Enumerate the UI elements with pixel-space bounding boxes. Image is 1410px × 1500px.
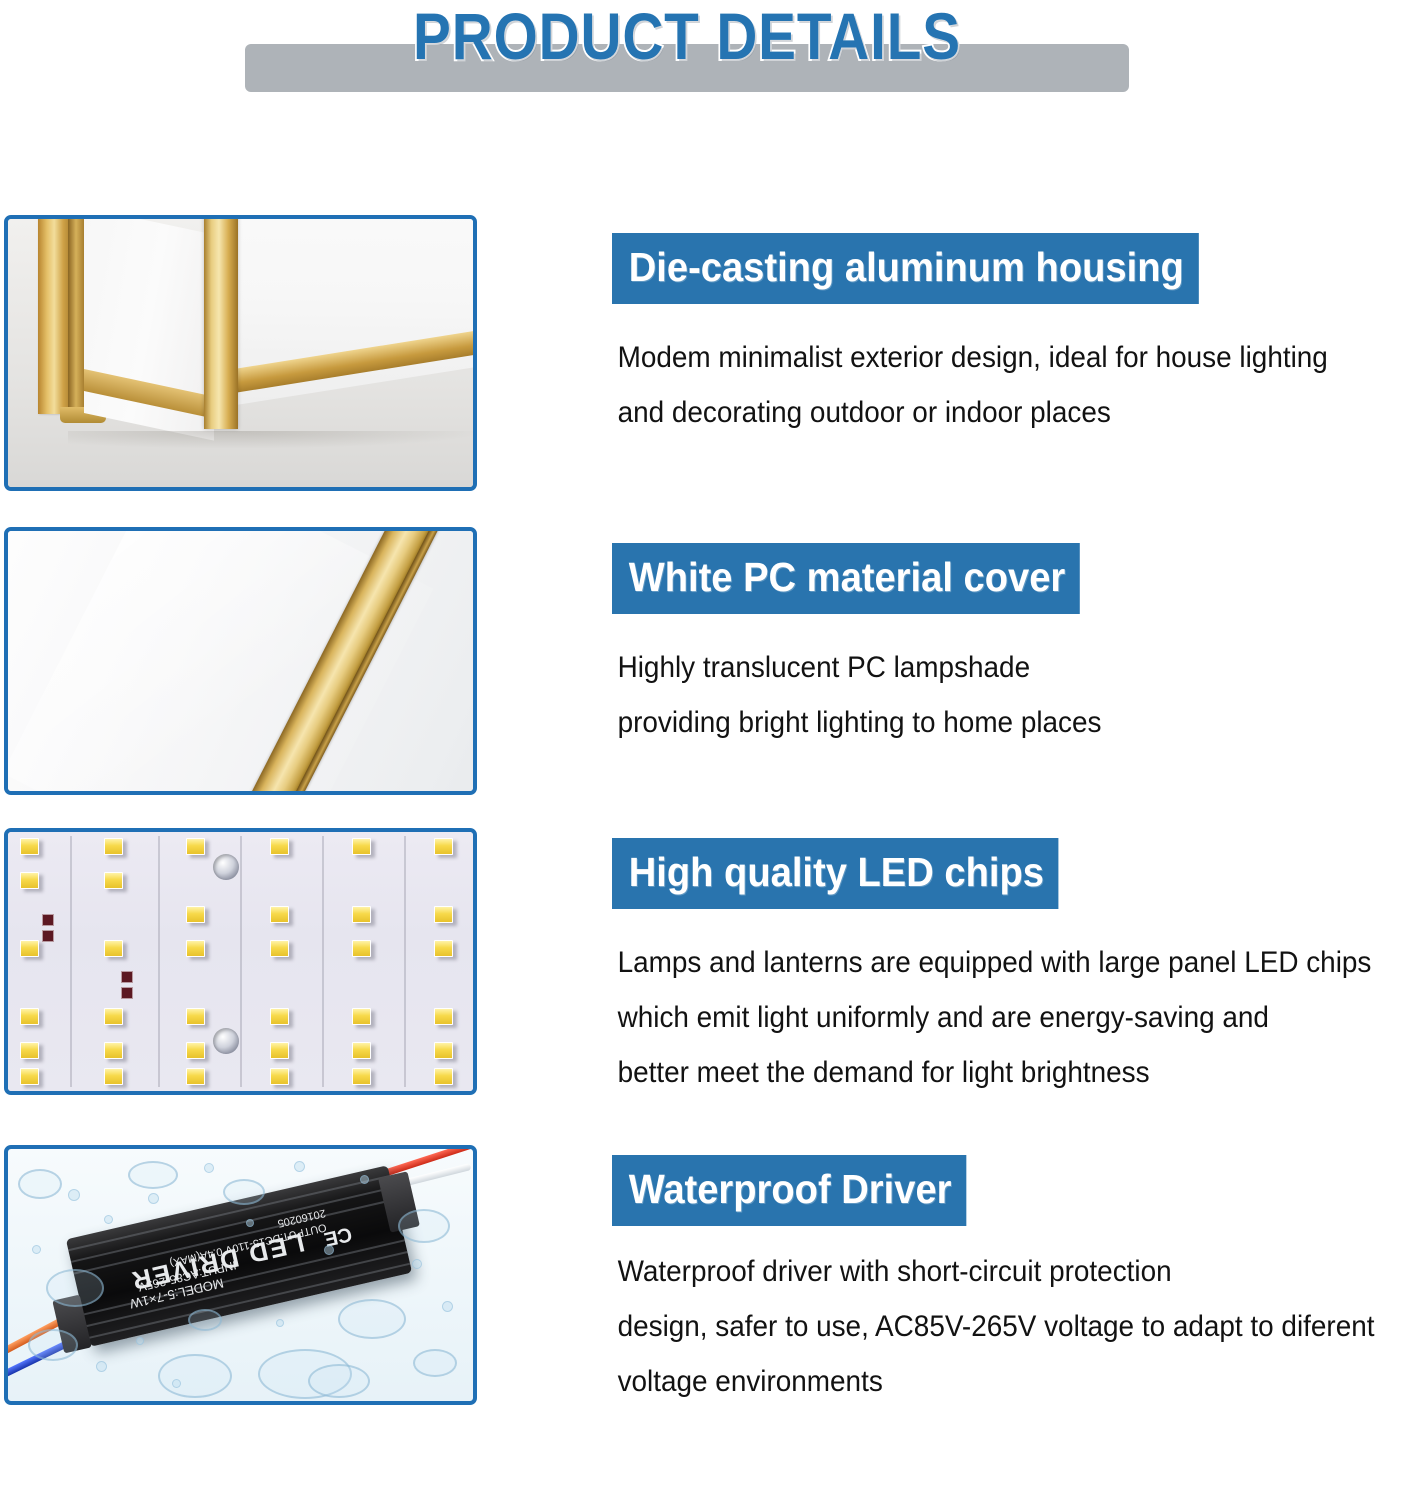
- led-chip: [104, 838, 123, 855]
- pcb-trace: [70, 836, 72, 1087]
- section-text-driver: Waterproof Driver Waterproof driver with…: [612, 1155, 1402, 1409]
- water-droplet: [412, 1259, 422, 1269]
- section-body-cover: Highly translucent PC lampshade providin…: [612, 640, 1347, 750]
- pcb-resistor: [121, 987, 133, 999]
- water-splash: [398, 1209, 450, 1243]
- led-chip: [20, 940, 39, 957]
- body-line: Highly translucent PC lampshade: [618, 640, 1347, 695]
- pcb-mounting-hole: [213, 1028, 239, 1054]
- water-droplet: [360, 1175, 369, 1184]
- body-line: Waterproof driver with short-circuit pro…: [618, 1244, 1347, 1299]
- led-chip: [270, 940, 289, 957]
- water-droplet: [68, 1189, 80, 1201]
- water-droplet: [96, 1361, 107, 1372]
- led-chip: [186, 906, 205, 923]
- led-chip: [20, 1042, 39, 1059]
- water-splash: [223, 1179, 265, 1205]
- gold-die-cast-housing-corner-photo: [4, 215, 477, 491]
- led-chip: [270, 1008, 289, 1025]
- water-splash: [158, 1354, 232, 1398]
- lamp-backplate-edge: [68, 219, 84, 419]
- section-text-housing: Die-casting aluminum housing Modem minim…: [612, 233, 1402, 440]
- led-chip: [434, 940, 453, 957]
- led-chip: [270, 906, 289, 923]
- led-chip: [20, 872, 39, 889]
- water-splash: [128, 1161, 178, 1189]
- section-heading-driver: Waterproof Driver: [612, 1155, 966, 1226]
- detail-section-led: High quality LED chips Lamps and lantern…: [0, 828, 1410, 1158]
- body-line: which emit light uniformly and are energ…: [618, 990, 1347, 1045]
- water-droplet: [246, 1219, 254, 1227]
- body-line: Modem minimalist exterior design, ideal …: [618, 330, 1347, 385]
- lamp-shadow: [68, 431, 473, 449]
- led-chip: [186, 1008, 205, 1025]
- pcb-trace: [322, 836, 324, 1087]
- section-heading-led: High quality LED chips: [612, 838, 1059, 909]
- led-chip: [352, 838, 371, 855]
- led-chip: [352, 1068, 371, 1085]
- led-chip: [434, 1042, 453, 1059]
- section-text-cover: White PC material cover Highly transluce…: [612, 543, 1402, 750]
- section-body-driver: Waterproof driver with short-circuit pro…: [612, 1244, 1347, 1409]
- water-splash: [308, 1364, 370, 1398]
- pcb-resistor: [42, 930, 54, 942]
- led-chip: [352, 940, 371, 957]
- pcb-resistor: [121, 971, 133, 983]
- body-line: better meet the demand for light brightn…: [618, 1045, 1347, 1100]
- section-heading-housing: Die-casting aluminum housing: [612, 233, 1199, 304]
- body-line: design, safer to use, AC85V-265V voltage…: [618, 1299, 1347, 1354]
- detail-section-housing: Die-casting aluminum housing Modem minim…: [0, 215, 1410, 525]
- led-chip: [434, 838, 453, 855]
- led-chip: [186, 1042, 205, 1059]
- white-pc-lampshade-cover-photo: [4, 527, 477, 795]
- lamp-corner-post: [204, 219, 238, 429]
- section-body-led: Lamps and lanterns are equipped with lar…: [612, 935, 1347, 1100]
- led-chip: [270, 1042, 289, 1059]
- led-chip: [20, 1068, 39, 1085]
- water-droplet: [204, 1163, 214, 1173]
- pcb-trace: [404, 836, 406, 1087]
- pcb-trace: [158, 836, 160, 1087]
- water-droplet: [442, 1301, 453, 1312]
- water-splash: [46, 1269, 104, 1307]
- page-title: PRODUCT DETAILS: [307, 0, 1067, 76]
- body-line: Lamps and lanterns are equipped with lar…: [618, 935, 1347, 990]
- water-droplet: [172, 1379, 181, 1388]
- led-chip: [20, 1008, 39, 1025]
- waterproof-led-driver-photo: LED DRIVER MODEL:5-7×1W INPUT:AC85-265V …: [4, 1145, 477, 1405]
- water-splash: [28, 1329, 78, 1361]
- led-chip: [352, 906, 371, 923]
- water-splash: [188, 1309, 222, 1331]
- led-chip: [186, 940, 205, 957]
- led-chip-board-photo: [4, 828, 477, 1095]
- led-chip: [270, 1068, 289, 1085]
- detail-section-driver: LED DRIVER MODEL:5-7×1W INPUT:AC85-265V …: [0, 1145, 1410, 1420]
- water-droplet: [104, 1215, 113, 1224]
- water-splash: [18, 1169, 62, 1199]
- led-chip: [352, 1042, 371, 1059]
- section-heading-cover: White PC material cover: [612, 543, 1080, 614]
- body-line: and decorating outdoor or indoor places: [618, 385, 1347, 440]
- water-droplet: [148, 1193, 159, 1204]
- pcb-resistor: [42, 914, 54, 926]
- led-chip: [104, 1042, 123, 1059]
- section-text-led: High quality LED chips Lamps and lantern…: [612, 838, 1402, 1100]
- led-chip: [20, 838, 39, 855]
- led-chip: [186, 838, 205, 855]
- water-droplet: [136, 1337, 144, 1345]
- led-chip: [434, 906, 453, 923]
- water-droplet: [324, 1245, 334, 1255]
- led-chip: [104, 1068, 123, 1085]
- led-chip: [270, 838, 289, 855]
- section-body-housing: Modem minimalist exterior design, ideal …: [612, 330, 1347, 440]
- water-splash: [338, 1299, 406, 1339]
- water-droplet: [276, 1319, 284, 1327]
- pcb-mounting-hole: [213, 854, 239, 880]
- led-chip: [186, 1068, 205, 1085]
- water-splash: [413, 1349, 457, 1377]
- led-chip: [352, 1008, 371, 1025]
- led-chip: [434, 1008, 453, 1025]
- led-chip: [104, 1008, 123, 1025]
- body-line: voltage environments: [618, 1354, 1347, 1409]
- led-chip: [434, 1068, 453, 1085]
- body-line: providing bright lighting to home places: [618, 695, 1347, 750]
- detail-section-cover: White PC material cover Highly transluce…: [0, 527, 1410, 832]
- led-chip: [104, 940, 123, 957]
- led-chip: [104, 872, 123, 889]
- pcb-trace: [240, 836, 242, 1087]
- water-droplet: [294, 1161, 305, 1172]
- water-droplet: [32, 1245, 41, 1254]
